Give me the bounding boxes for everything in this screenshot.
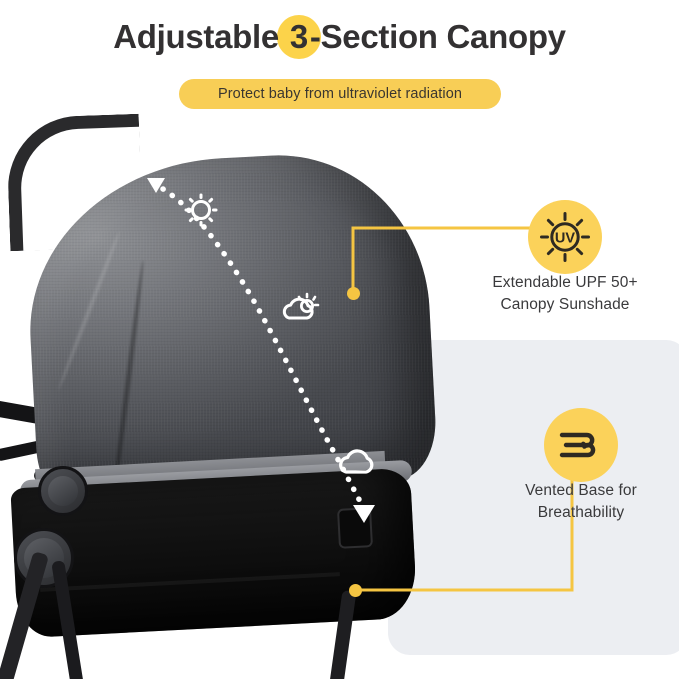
caption-line-2: Breathability <box>472 502 679 524</box>
airflow-icon <box>557 424 605 466</box>
subtitle-banner: Protect baby from ultraviolet radiation <box>179 79 501 109</box>
subtitle-text: Protect baby from ultraviolet radiation <box>218 86 462 102</box>
connector-dot-vented <box>349 584 362 597</box>
uv-sun-icon: UV <box>538 210 592 264</box>
title-highlight-wrap: 3 <box>288 18 310 56</box>
title-text-after: -Section Canopy <box>310 18 566 55</box>
badge-upf-sunshade[interactable]: UV <box>528 200 602 274</box>
caption-line-2: Canopy Sunshade <box>452 294 678 316</box>
caption-vented-base: Vented Base for Breathability <box>472 480 679 524</box>
infographic-canvas: Adjustable 3-Section Canopy Protect baby… <box>0 0 679 679</box>
page-title: Adjustable 3-Section Canopy <box>0 18 679 56</box>
badge-vented-base[interactable] <box>544 408 618 482</box>
caption-line-1: Vented Base for <box>472 480 679 502</box>
caption-upf-sunshade: Extendable UPF 50+ Canopy Sunshade <box>452 272 678 316</box>
caption-line-1: Extendable UPF 50+ <box>452 272 678 294</box>
title-text-before: Adjustable <box>113 18 288 55</box>
title-highlight-number: 3 <box>290 18 308 55</box>
uv-label: UV <box>555 231 575 247</box>
connector-dot-upf <box>347 287 360 300</box>
